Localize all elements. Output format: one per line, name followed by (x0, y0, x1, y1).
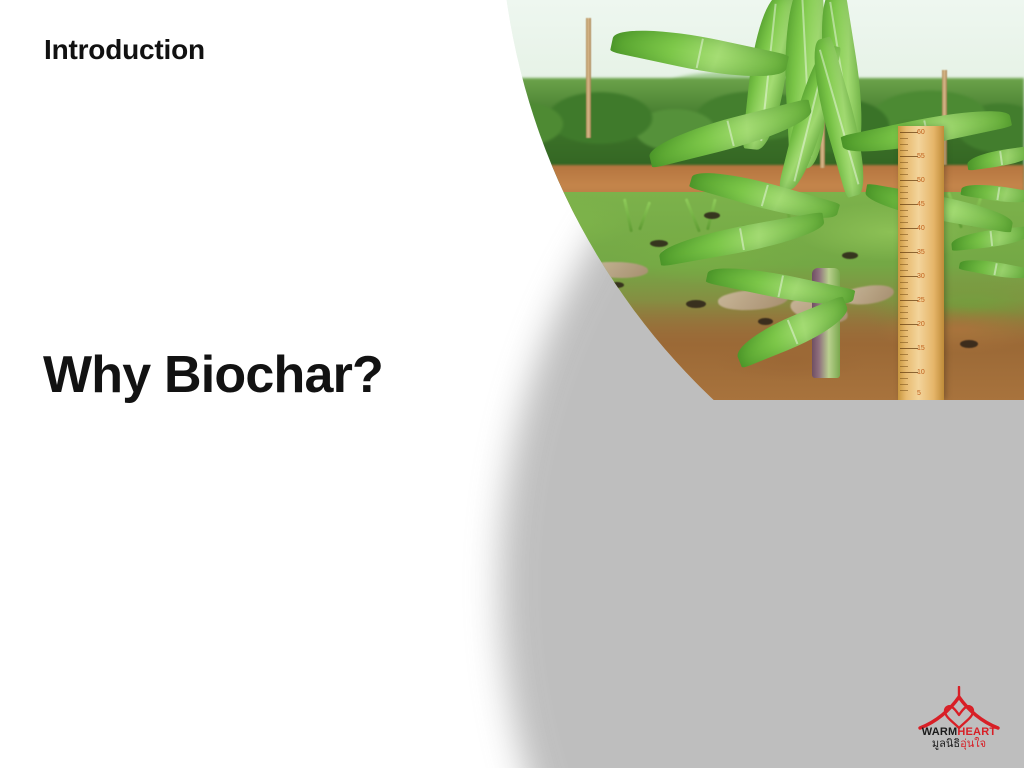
background-seedling (558, 205, 569, 233)
field-stake (586, 18, 591, 138)
logo-wordmark: WARMHEART (906, 726, 1012, 738)
ruler-number: 35 (917, 249, 925, 256)
biochar-fleck (650, 240, 668, 247)
logo-word-warm: WARM (922, 726, 958, 738)
biochar-fleck (686, 300, 706, 308)
presentation-slide: 60 55 50 45 40 35 30 25 20 15 10 5 Intro… (0, 0, 1024, 768)
ruler-number: 30 (917, 273, 925, 280)
biochar-fleck (842, 252, 858, 259)
section-label: Introduction (44, 34, 205, 66)
ruler-number: 20 (917, 321, 925, 328)
logo-word-heart: HEART (957, 726, 996, 738)
biochar-fleck (960, 340, 978, 348)
arch-heart-icon (914, 686, 1004, 730)
biochar-fleck (704, 212, 720, 219)
measuring-ruler: 60 55 50 45 40 35 30 25 20 15 10 5 (898, 126, 944, 400)
logo-thai-text: มูลนิธิอุ่นใจ (906, 738, 1012, 750)
biochar-fleck (758, 318, 773, 325)
warmheart-logo: WARMHEART มูลนิธิอุ่นใจ (906, 686, 1012, 752)
logo-thai-red: อุ่นใจ (960, 738, 986, 750)
ruler-number: 25 (917, 297, 925, 304)
ruler-number: 50 (917, 177, 925, 184)
ruler-number: 5 (917, 390, 921, 397)
logo-thai-black: มูลนิธิ (932, 738, 960, 750)
ruler-number: 10 (917, 369, 925, 376)
ruler-number: 60 (917, 129, 925, 136)
ruler-number: 15 (917, 345, 925, 352)
background-seedling (541, 206, 553, 235)
ruler-number: 55 (917, 153, 925, 160)
ruler-number: 45 (917, 201, 925, 208)
page-title: Why Biochar? (43, 345, 383, 405)
ruler-number: 40 (917, 225, 925, 232)
